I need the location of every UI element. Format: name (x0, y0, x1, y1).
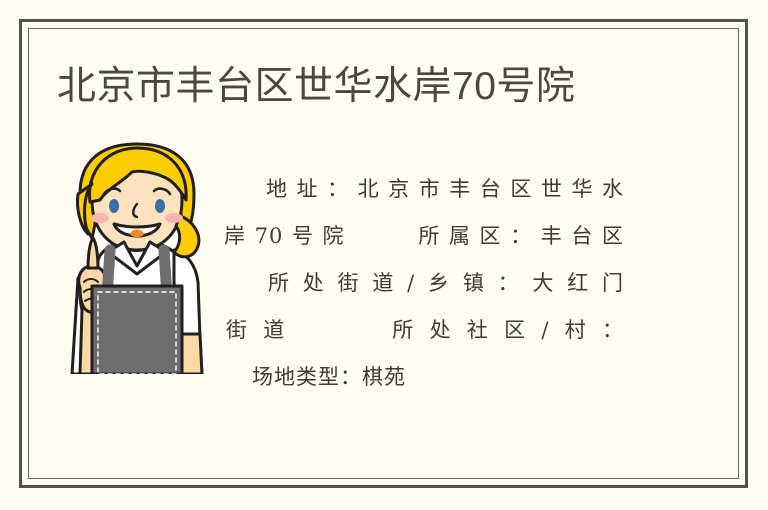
info-line-2: 岸70号院 所属区：丰台区 (222, 213, 624, 260)
poster-page: 北京市丰台区世华水岸70号院 (0, 0, 768, 510)
page-title: 北京市丰台区世华水岸70号院 (57, 63, 575, 111)
info-line-1: 地址：北京市丰台区世华水 (222, 166, 624, 213)
info-line-3: 所处街道/乡镇：大红门 (222, 260, 624, 307)
cartoon-girl-illustration (62, 142, 212, 374)
venue-info-block: 地址：北京市丰台区世华水 岸70号院 所属区：丰台区 所处街道/乡镇：大红门 街… (222, 166, 624, 401)
info-line-4: 街道 所处社区/村： (222, 307, 624, 354)
info-line-5: 场地类型：棋苑 (222, 354, 624, 401)
